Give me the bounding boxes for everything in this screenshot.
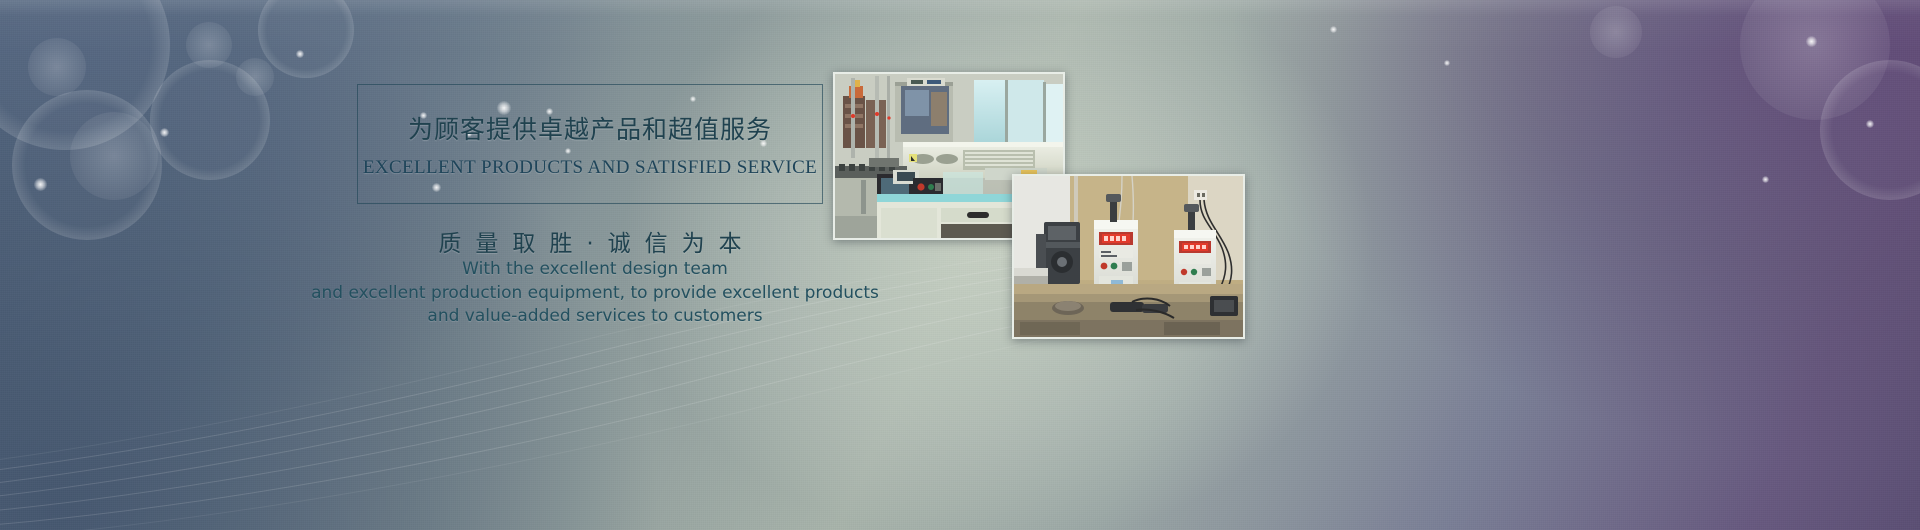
bokeh-circle [1590, 6, 1642, 58]
headline-chinese: 为顾客提供卓越产品和超值服务 [357, 110, 823, 146]
bokeh-dot [1762, 176, 1769, 183]
company-slogan: 质量取胜·诚信为本 [357, 224, 823, 258]
bokeh-dot [1806, 36, 1817, 47]
bokeh-dot [1330, 26, 1337, 33]
banner-paragraph: With the excellent design team and excel… [300, 258, 890, 329]
paragraph-line-2: and excellent production equipment, to p… [300, 282, 890, 306]
hero-banner: 为顾客提供卓越产品和超值服务 EXCELLENT PRODUCTS AND SA… [0, 0, 1920, 530]
bokeh-dot [1866, 120, 1874, 128]
photo-test-equipment [1012, 174, 1245, 339]
bokeh-circle [1740, 0, 1890, 120]
bokeh-dot [1444, 60, 1450, 66]
headline-english: EXCELLENT PRODUCTS AND SATISFIED SERVICE [357, 157, 823, 179]
paragraph-line-3: and value-added services to customers [300, 305, 890, 329]
bokeh-circle [1820, 60, 1920, 200]
paragraph-line-1: With the excellent design team [300, 258, 890, 282]
